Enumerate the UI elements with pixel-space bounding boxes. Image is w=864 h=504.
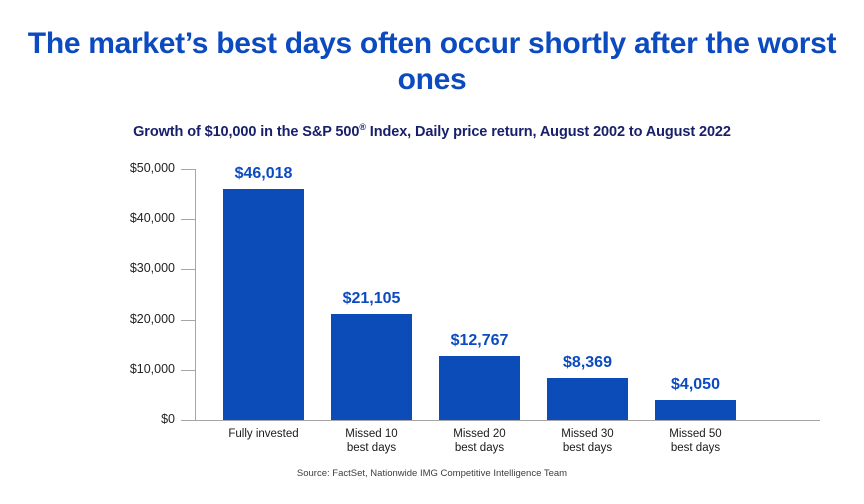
y-axis-tick-mark	[181, 219, 195, 220]
bar-chart: $0$10,000$20,000$30,000$40,000$50,000 $4…	[0, 0, 864, 504]
category-label-line: best days	[626, 441, 766, 455]
y-axis-line	[195, 169, 196, 421]
bar-value-label: $4,050	[626, 376, 766, 394]
y-axis-tick-label: $30,000	[130, 261, 175, 275]
y-axis-tick-label: $20,000	[130, 312, 175, 326]
y-axis-tick-label: $40,000	[130, 211, 175, 225]
bar[interactable]	[655, 400, 736, 420]
bar[interactable]	[439, 356, 520, 420]
bar[interactable]	[547, 378, 628, 420]
bar-value-label: $8,369	[518, 354, 658, 372]
y-axis-tick-label: $10,000	[130, 362, 175, 376]
y-axis-tick-mark	[181, 269, 195, 270]
bar-value-label: $46,018	[194, 165, 334, 183]
bar-value-label: $21,105	[302, 290, 442, 308]
y-axis-tick-label: $50,000	[130, 161, 175, 175]
slide-root: The market’s best days often occur short…	[0, 0, 864, 504]
y-axis-tick-mark	[181, 420, 195, 421]
bar-value-label: $12,767	[410, 332, 550, 350]
category-label-line: Missed 50	[626, 427, 766, 441]
source-note: Source: FactSet, Nationwide IMG Competit…	[20, 468, 844, 479]
y-axis-tick-label: $0	[161, 412, 175, 426]
y-axis-tick-mark	[181, 320, 195, 321]
bar[interactable]	[223, 189, 304, 420]
x-axis-category-label: Missed 50best days	[626, 427, 766, 455]
y-axis-tick-mark	[181, 370, 195, 371]
x-axis-line	[195, 420, 820, 421]
bar[interactable]	[331, 314, 412, 420]
